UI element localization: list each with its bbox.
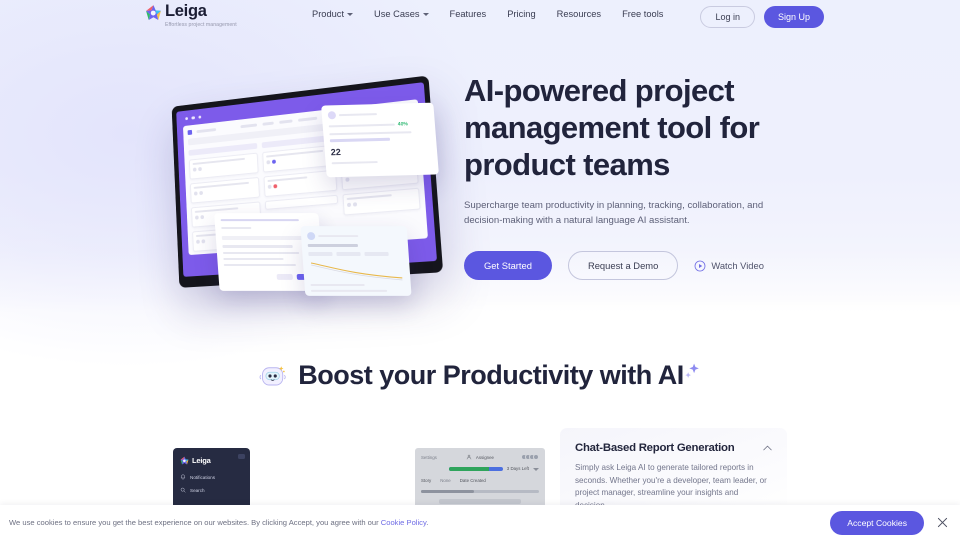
productivity-heading: Boost your Productivity with AI <box>298 360 702 391</box>
days-left-label: 3 Days Left <box>507 466 529 471</box>
insight-percent: 40% <box>398 121 408 127</box>
assignee-label: Assignee <box>476 455 494 460</box>
burndown-chart-icon <box>309 260 405 282</box>
avatar-group <box>523 454 539 460</box>
play-circle-icon <box>694 260 706 272</box>
story-label: Story <box>421 478 431 483</box>
nav-item-free-tools[interactable]: Free tools <box>622 9 663 19</box>
nav-item-features[interactable]: Features <box>450 9 487 19</box>
floating-chart-card <box>300 226 411 296</box>
progress-row: 3 Days Left <box>421 466 539 471</box>
main-nav: Product Use Cases Features Pricing Resou… <box>312 9 663 19</box>
footer-bar <box>439 499 522 504</box>
insight-metric: 22 <box>330 144 431 157</box>
cookie-message: We use cookies to ensure you get the bes… <box>9 518 428 527</box>
accordion-chat-based-report-generation[interactable]: Chat-Based Report Generation Simply ask … <box>560 428 787 513</box>
request-demo-button[interactable]: Request a Demo <box>568 251 678 280</box>
meta-row: Story None Date Created <box>421 478 539 483</box>
brand-logo[interactable]: Leiga Effortless project management <box>145 3 237 29</box>
nav-item-product[interactable]: Product <box>312 9 353 19</box>
user-icon <box>466 454 472 460</box>
login-button[interactable]: Log in <box>700 6 755 28</box>
sidebar-item-label: Notifications <box>190 475 215 480</box>
nav-item-resources[interactable]: Resources <box>557 9 601 19</box>
hero-cta-group: Get Started Request a Demo Watch Video <box>464 251 794 280</box>
search-icon <box>180 487 186 493</box>
panel-brand: Leiga <box>180 456 243 465</box>
accept-cookies-button[interactable]: Accept Cookies <box>830 511 924 535</box>
nav-item-pricing[interactable]: Pricing <box>507 9 535 19</box>
hero-content: AI-powered project management tool for p… <box>464 72 794 280</box>
star-logo-icon <box>145 4 162 21</box>
horizontal-scrollbar[interactable] <box>421 490 539 493</box>
nav-label: Use Cases <box>374 9 419 19</box>
sidebar-item-search[interactable]: Search <box>180 487 243 493</box>
get-started-button[interactable]: Get Started <box>464 251 552 280</box>
cookie-banner: We use cookies to ensure you get the bes… <box>0 505 960 540</box>
hero-subheadline: Supercharge team productivity in plannin… <box>464 199 782 228</box>
hero-headline: AI-powered project management tool for p… <box>464 72 794 183</box>
robot-emoji-icon <box>258 361 288 391</box>
star-logo-icon <box>180 456 189 465</box>
auth-actions: Log in Sign Up <box>700 6 824 28</box>
cookie-message-text: We use cookies to ensure you get the bes… <box>9 518 381 527</box>
cookie-message-end: . <box>426 518 428 527</box>
bell-icon <box>180 474 186 480</box>
cookie-policy-link[interactable]: Cookie Policy <box>381 518 426 527</box>
watch-video-link[interactable]: Watch Video <box>694 260 764 272</box>
chevron-down-icon <box>423 13 429 16</box>
landing-page: Leiga Effortless project management Prod… <box>0 0 960 540</box>
none-label: None <box>440 478 451 483</box>
sparkles-icon <box>683 362 702 381</box>
watch-video-label: Watch Video <box>711 260 764 271</box>
accordion-title: Chat-Based Report Generation <box>575 442 734 454</box>
productivity-section-header: Boost your Productivity with AI <box>0 360 960 391</box>
sidebar-item-notifications[interactable]: Notifications <box>180 474 243 480</box>
cookie-actions: Accept Cookies <box>830 511 948 535</box>
window-dots-icon <box>185 115 201 120</box>
date-created-label: Date Created <box>460 478 486 483</box>
brand-name: Leiga <box>165 3 237 20</box>
floating-insight-card: 40% 22 <box>321 103 439 178</box>
progress-bar <box>449 467 503 471</box>
nav-label: Product <box>312 9 344 19</box>
signup-button[interactable]: Sign Up <box>764 6 824 28</box>
chevron-down-icon <box>347 13 353 16</box>
brand-tagline: Effortless project management <box>165 21 237 29</box>
chevron-up-icon[interactable] <box>763 445 772 451</box>
close-icon[interactable] <box>937 517 948 528</box>
settings-label: Settings <box>421 455 437 460</box>
panel-brand-name: Leiga <box>192 456 211 465</box>
sidebar-item-label: Search <box>190 488 205 493</box>
collapse-icon <box>238 454 245 459</box>
site-header: Leiga Effortless project management Prod… <box>0 0 960 36</box>
hero-product-mockup: 40% 22 <box>150 80 450 310</box>
nav-item-use-cases[interactable]: Use Cases <box>374 9 428 19</box>
